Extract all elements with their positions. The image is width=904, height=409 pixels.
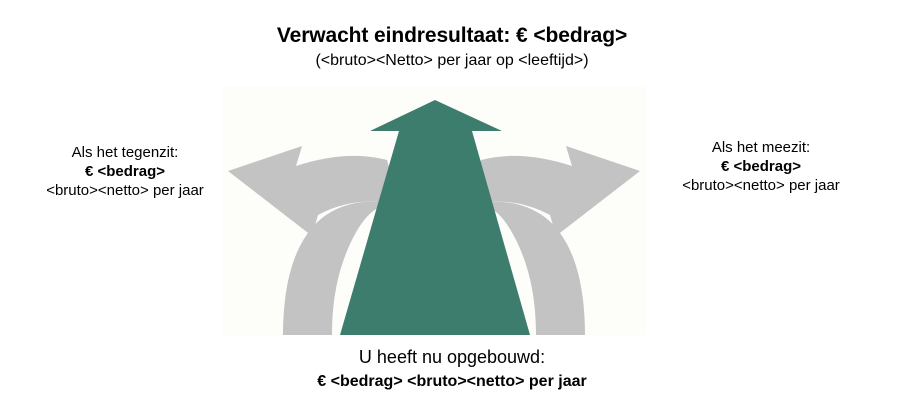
- optimistic-label-line1: Als het meezit:: [630, 138, 892, 157]
- current-accrual-label: U heeft nu opgebouwd: € <bedrag> <bruto>…: [0, 345, 904, 393]
- pessimistic-scenario-label: Als het tegenzit: € <bedrag> <bruto><net…: [12, 143, 238, 201]
- optimistic-label-detail: <bruto><netto> per jaar: [630, 176, 892, 195]
- optimistic-label-amount: € <bedrag>: [630, 157, 892, 176]
- pessimistic-label-amount: € <bedrag>: [12, 162, 238, 181]
- page-subtitle: (<bruto><Netto> per jaar op <leeftijd>): [0, 52, 904, 71]
- diagram-canvas: Verwacht eindresultaat: € <bedrag> (<bru…: [0, 0, 904, 409]
- pessimistic-label-detail: <bruto><netto> per jaar: [12, 181, 238, 200]
- title-block: Verwacht eindresultaat: € <bedrag> (<bru…: [0, 24, 904, 71]
- current-accrual-line1: U heeft nu opgebouwd:: [0, 345, 904, 369]
- current-accrual-amount: € <bedrag> <bruto><netto> per jaar: [0, 371, 904, 393]
- optimistic-scenario-label: Als het meezit: € <bedrag> <bruto><netto…: [630, 138, 892, 196]
- expected-result-arrow: [340, 100, 530, 335]
- pessimistic-label-line1: Als het tegenzit:: [12, 143, 238, 162]
- page-title: Verwacht eindresultaat: € <bedrag>: [0, 24, 904, 49]
